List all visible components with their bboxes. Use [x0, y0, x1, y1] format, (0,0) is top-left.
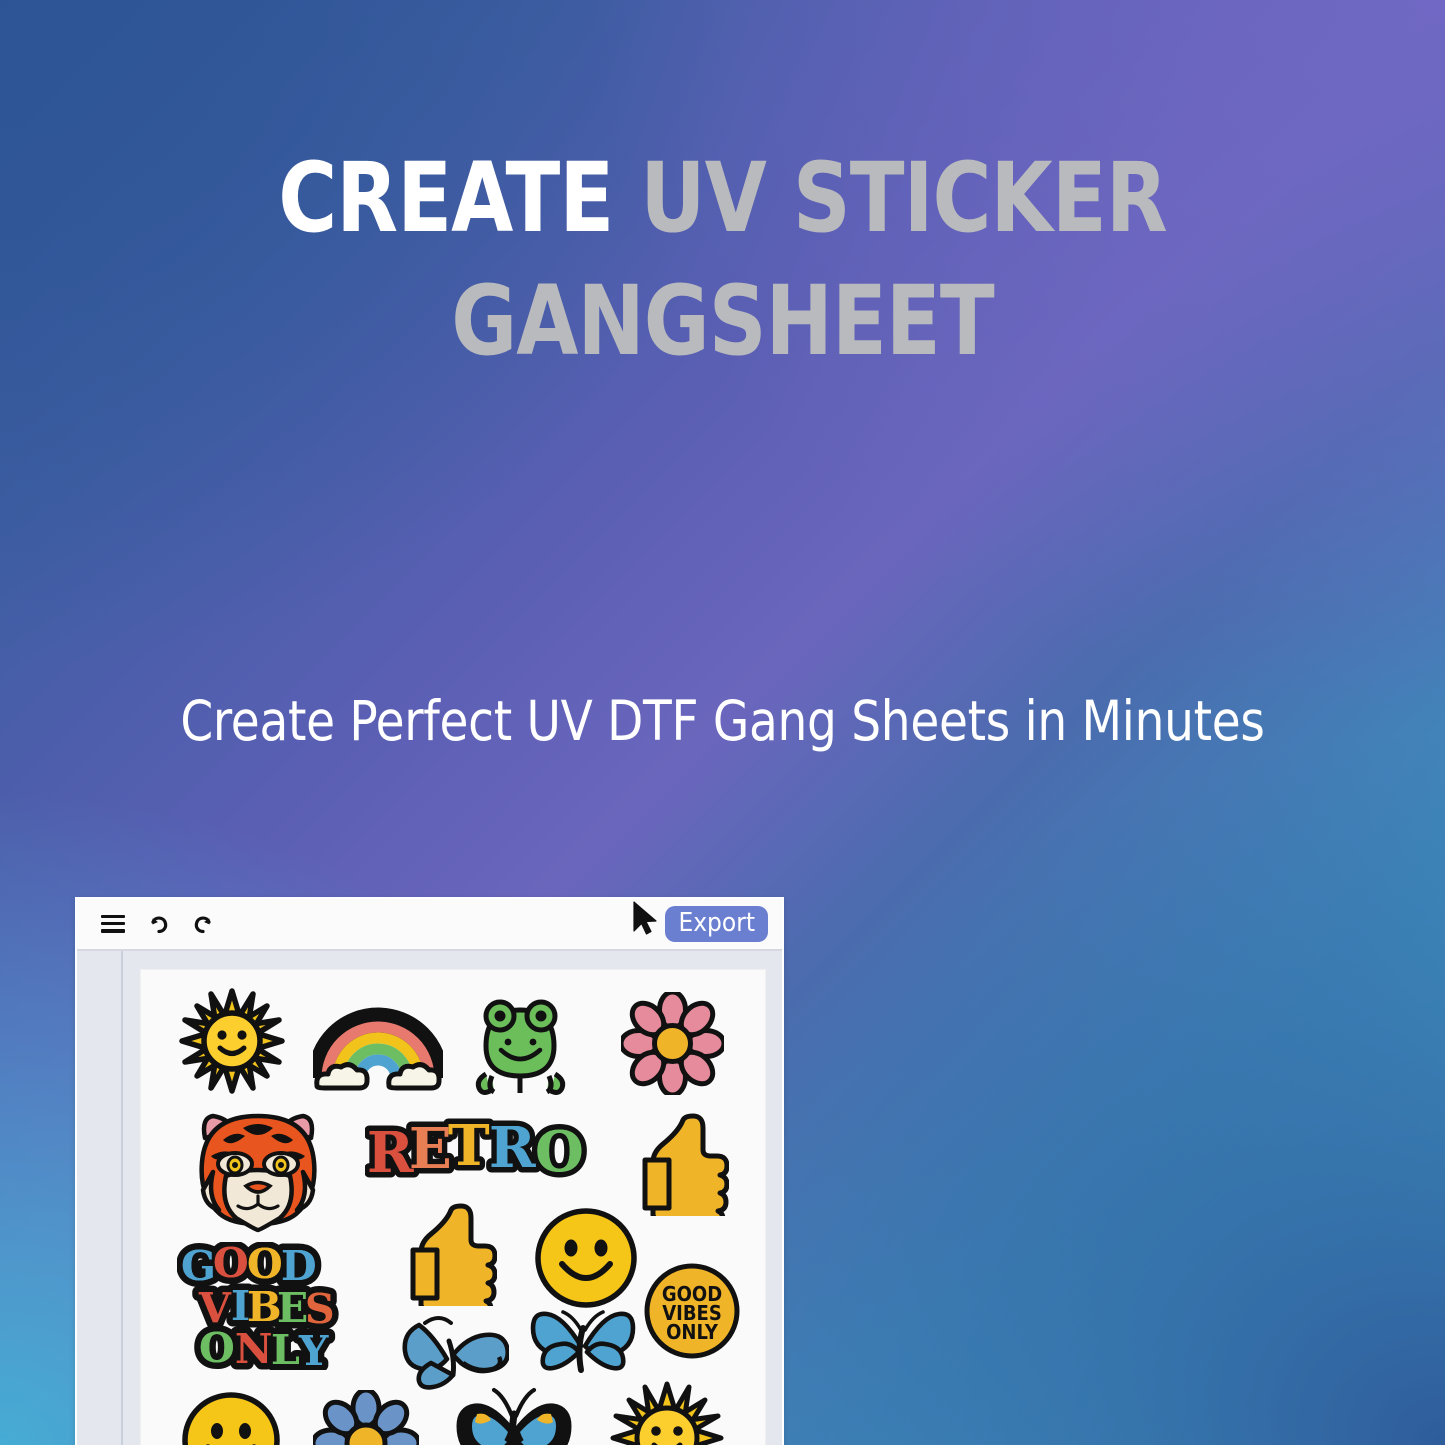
- redo-arrow-icon[interactable]: [191, 911, 217, 937]
- sunflower-smiley-sticker[interactable]: [609, 1380, 725, 1445]
- gang-sheet-canvas[interactable]: R E T R O R E T R: [140, 969, 766, 1445]
- blue-daisy-sticker[interactable]: [313, 1390, 419, 1445]
- svg-text:E: E: [409, 1118, 452, 1182]
- svg-text:G: G: [181, 1242, 216, 1290]
- mouse-pointer-icon: [631, 900, 661, 936]
- rainbow-clouds-sticker[interactable]: [313, 998, 443, 1098]
- thumbs-up-sticker-center[interactable]: [409, 1200, 497, 1311]
- page-title: CREATE UV STICKER GANGSHEET: [51, 137, 1395, 383]
- page-subtitle: Create Perfect UV DTF Gang Sheets in Min…: [36, 689, 1409, 753]
- app-window: Export: [75, 897, 784, 1445]
- pink-daisy-sticker[interactable]: [621, 992, 724, 1100]
- hamburger-menu-icon[interactable]: [101, 915, 125, 933]
- export-button[interactable]: Export: [665, 906, 768, 942]
- headline-line-1: CREATE UV STICKER: [51, 137, 1395, 260]
- work-area: R E T R O R E T R: [123, 951, 782, 1445]
- svg-text:O: O: [213, 1242, 249, 1287]
- svg-text:D: D: [281, 1242, 317, 1290]
- tiger-face-sticker[interactable]: [183, 1110, 333, 1240]
- svg-text:O: O: [535, 1119, 584, 1184]
- svg-text:L: L: [271, 1326, 300, 1370]
- svg-text:O: O: [199, 1324, 235, 1370]
- headline-gangsheet: GANGSHEET: [51, 260, 1395, 383]
- undo-arrow-icon[interactable]: [145, 911, 171, 937]
- svg-text:R: R: [367, 1120, 414, 1184]
- smiley-face-sticker-small[interactable]: [181, 1390, 281, 1445]
- frog-sticker[interactable]: [468, 992, 573, 1102]
- svg-text:Y: Y: [298, 1327, 329, 1370]
- svg-text:S: S: [305, 1285, 335, 1333]
- app-toolbar: Export: [77, 899, 782, 951]
- svg-text:ONLY: ONLY: [666, 1320, 719, 1344]
- monarch-butterfly-sticker[interactable]: [455, 1378, 573, 1445]
- svg-text:N: N: [235, 1325, 272, 1370]
- app-body: R E T R O R E T R: [77, 951, 782, 1445]
- poster-root: CREATE UV STICKER GANGSHEET Create Perfe…: [0, 0, 1445, 1445]
- headline-uv-sticker: UV STICKER: [640, 142, 1166, 254]
- retro-word-sticker[interactable]: R E T R O R E T R: [365, 1118, 589, 1189]
- smiley-face-sticker-large[interactable]: [534, 1206, 638, 1315]
- svg-text:O: O: [247, 1242, 283, 1288]
- svg-text:R: R: [489, 1118, 536, 1181]
- svg-text:T: T: [448, 1118, 490, 1179]
- sticker-grid: R E T R O R E T R: [141, 970, 765, 1445]
- thumbs-up-sticker-right[interactable]: [641, 1110, 729, 1221]
- sun-smiley-sticker[interactable]: [177, 986, 287, 1101]
- svg-text:E: E: [277, 1284, 308, 1332]
- good-vibes-only-text-sticker[interactable]: G O O D V I B E S O: [177, 1242, 345, 1375]
- left-tool-rail[interactable]: [77, 951, 123, 1445]
- good-vibes-only-badge-sticker[interactable]: GOOD VIBES ONLY: [643, 1262, 741, 1365]
- headline-create: CREATE: [278, 142, 613, 254]
